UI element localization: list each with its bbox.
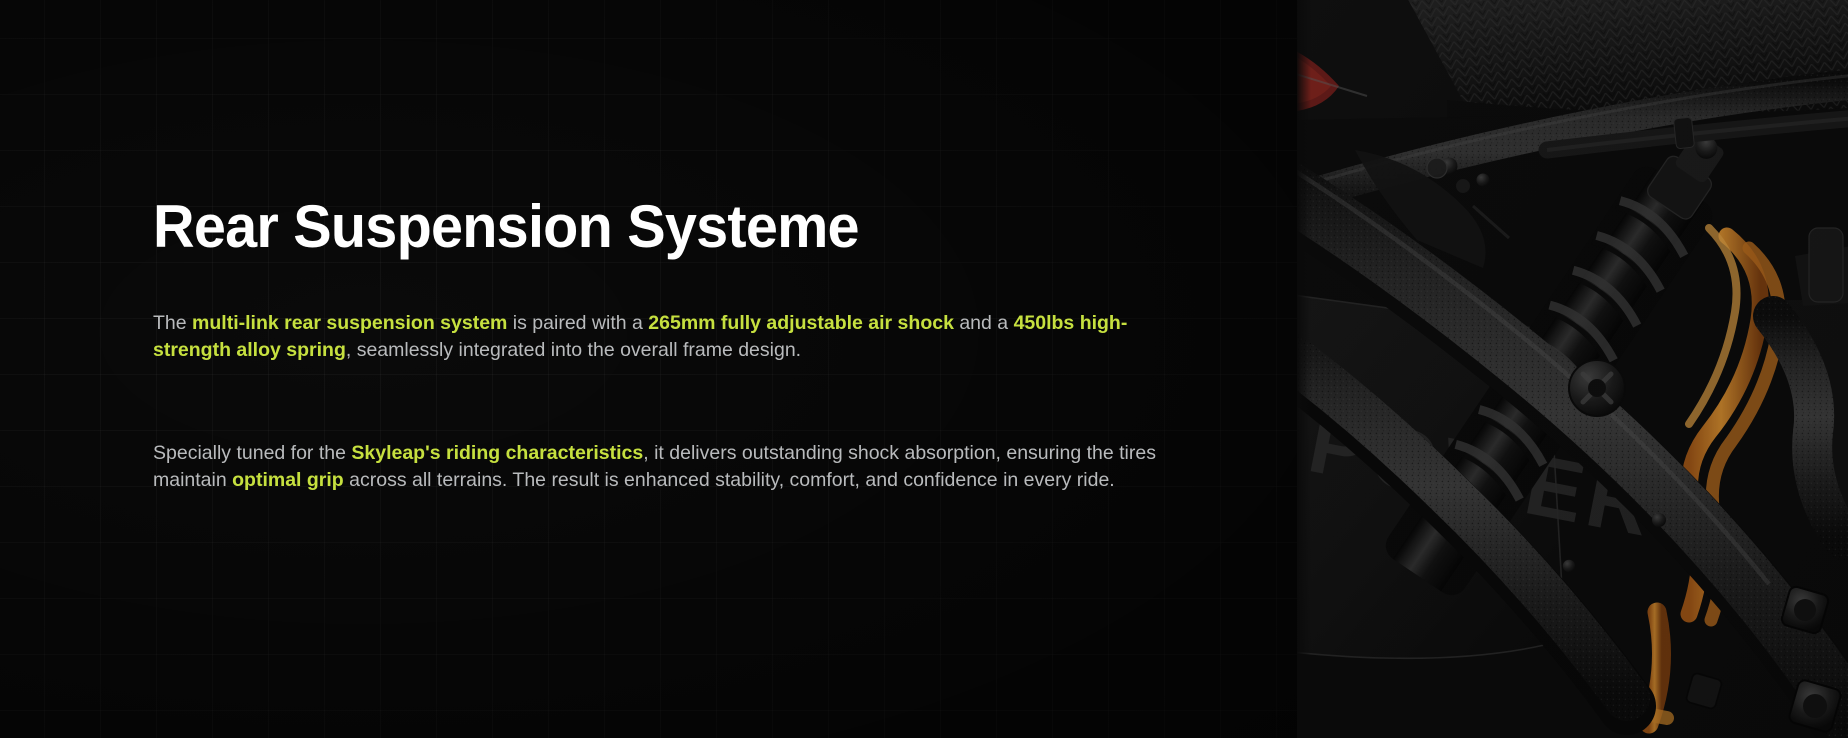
body-text: across all terrains. The result is enhan… xyxy=(344,469,1115,491)
highlighted-text: 265mm fully adjustable air shock xyxy=(648,312,954,334)
product-photo: POWER xyxy=(1297,0,1848,738)
paragraph-1: The multi-link rear suspension system is… xyxy=(153,310,1163,365)
suspension-photo-illustration: POWER xyxy=(1297,0,1848,738)
body-copy: The multi-link rear suspension system is… xyxy=(153,310,1203,495)
text-panel: Rear Suspension Systeme The multi-link r… xyxy=(0,0,1297,738)
highlighted-text: optimal grip xyxy=(232,469,344,491)
highlighted-text: multi-link rear suspension system xyxy=(192,312,507,334)
content-block: Rear Suspension Systeme The multi-link r… xyxy=(153,196,1203,495)
body-text: Specially tuned for the xyxy=(153,442,351,464)
body-text: , seamlessly integrated into the overall… xyxy=(346,339,801,361)
highlighted-text: Skyleap's riding characteristics xyxy=(351,442,643,464)
page-title: Rear Suspension Systeme xyxy=(153,196,1161,258)
body-text: The xyxy=(153,312,192,334)
feature-section: Rear Suspension Systeme The multi-link r… xyxy=(0,0,1848,738)
body-text: and a xyxy=(954,312,1014,334)
paragraph-2: Specially tuned for the Skyleap's riding… xyxy=(153,440,1163,495)
body-text: is paired with a xyxy=(507,312,648,334)
